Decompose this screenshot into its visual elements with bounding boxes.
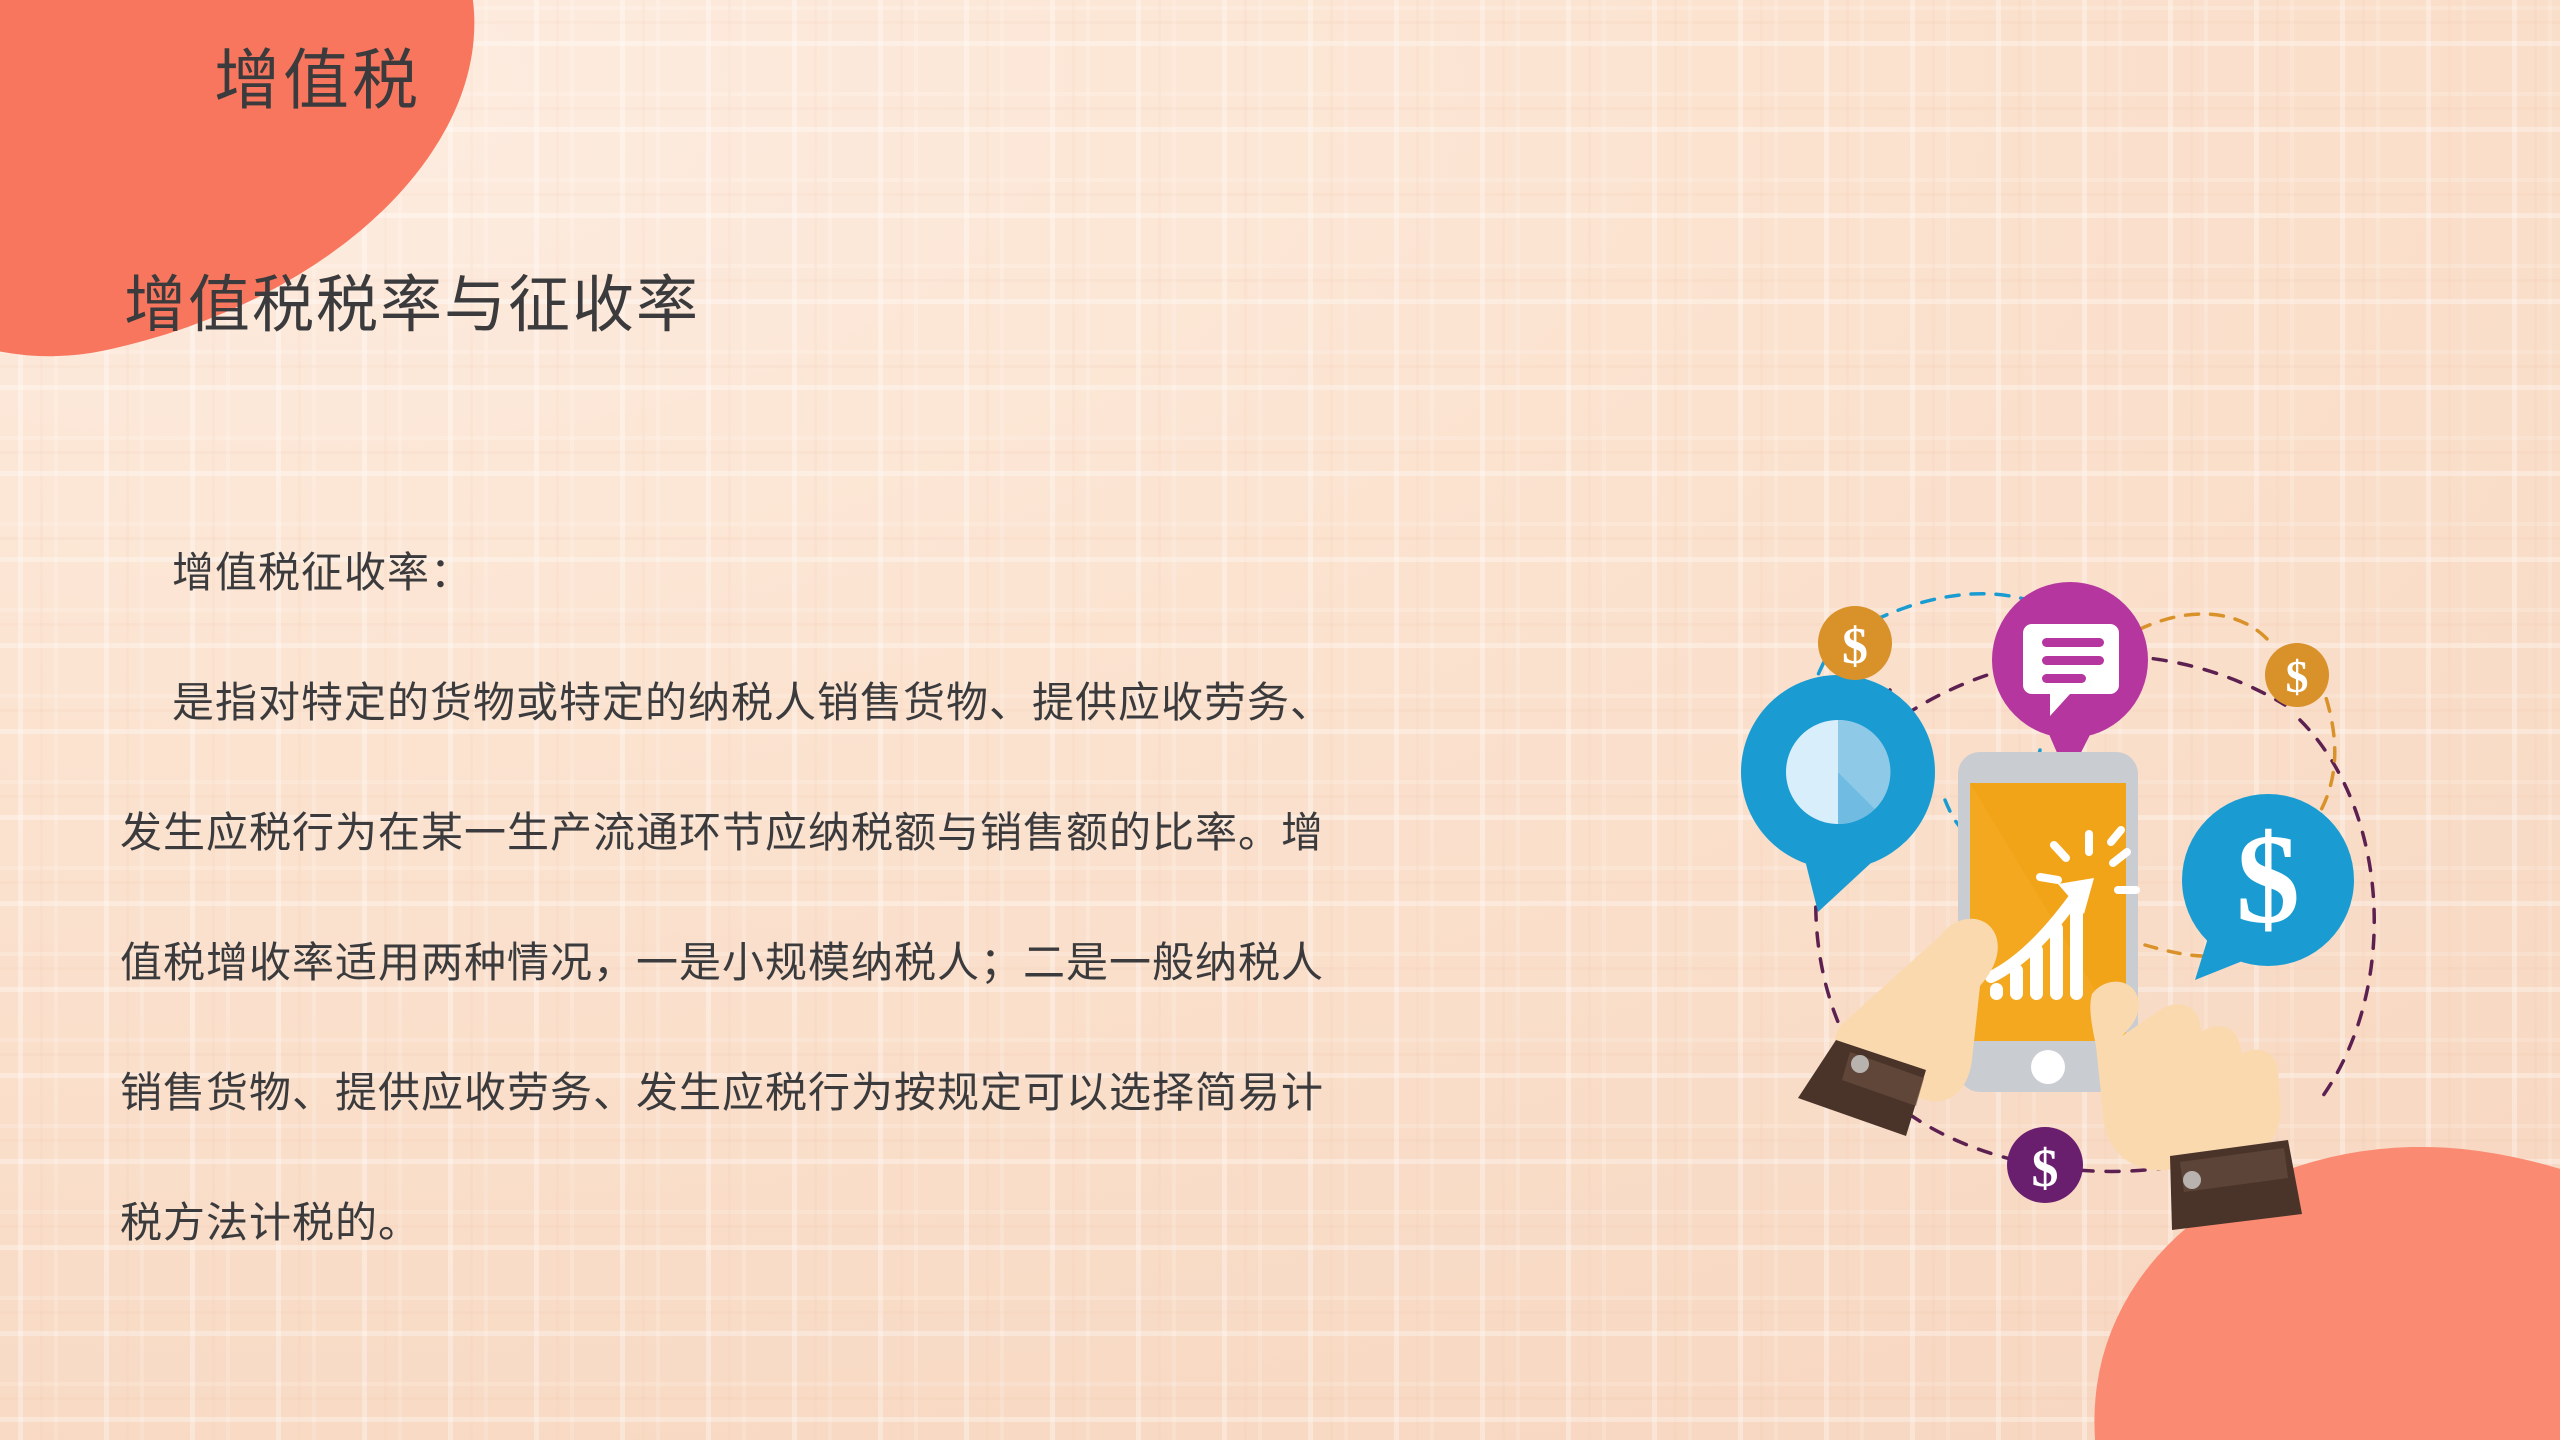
body-lead-line: 增值税征收率： [120, 508, 1540, 638]
right-hand [2090, 982, 2302, 1230]
coin-bottom: $ [2007, 1127, 2083, 1203]
coin-top-right: $ [2265, 643, 2329, 707]
slide-title: 增值税 [214, 44, 421, 117]
mobile-finance-illustration: $ $ $ $ [1740, 540, 2460, 1260]
coin-top-left: $ [1818, 606, 1892, 680]
svg-text:$: $ [2032, 1138, 2059, 1198]
svg-text:$: $ [2236, 808, 2300, 950]
svg-text:$: $ [1842, 618, 1868, 675]
body-line-4: 销售货物、提供应收劳务、发生应税行为按规定可以选择简易计 [120, 1028, 1540, 1158]
body-text-block: 增值税征收率： 是指对特定的货物或特定的纳税人销售货物、提供应收劳务、 发生应税… [120, 508, 1540, 1288]
svg-text:$: $ [2286, 651, 2309, 702]
body-line-3: 值税增收率适用两种情况，一是小规模纳税人；二是一般纳税人 [120, 898, 1540, 1028]
pie-chart-bubble [1741, 675, 1935, 912]
dollar-bubble: $ [2182, 794, 2354, 980]
left-hand [1798, 919, 1998, 1136]
slide-content: 增值税 增值税税率与征收率 增值税征收率： 是指对特定的货物或特定的纳税人销售货… [0, 0, 2560, 1440]
body-line-2: 发生应税行为在某一生产流通环节应纳税额与销售额的比率。增 [120, 768, 1540, 898]
section-heading: 增值税税率与征收率 [124, 272, 700, 340]
chat-bubble [1992, 582, 2148, 778]
body-line-1: 是指对特定的货物或特定的纳税人销售货物、提供应收劳务、 [120, 638, 1540, 768]
body-line-5: 税方法计税的。 [120, 1158, 1540, 1288]
slide-root: 增值税 增值税税率与征收率 增值税征收率： 是指对特定的货物或特定的纳税人销售货… [0, 0, 2560, 1440]
